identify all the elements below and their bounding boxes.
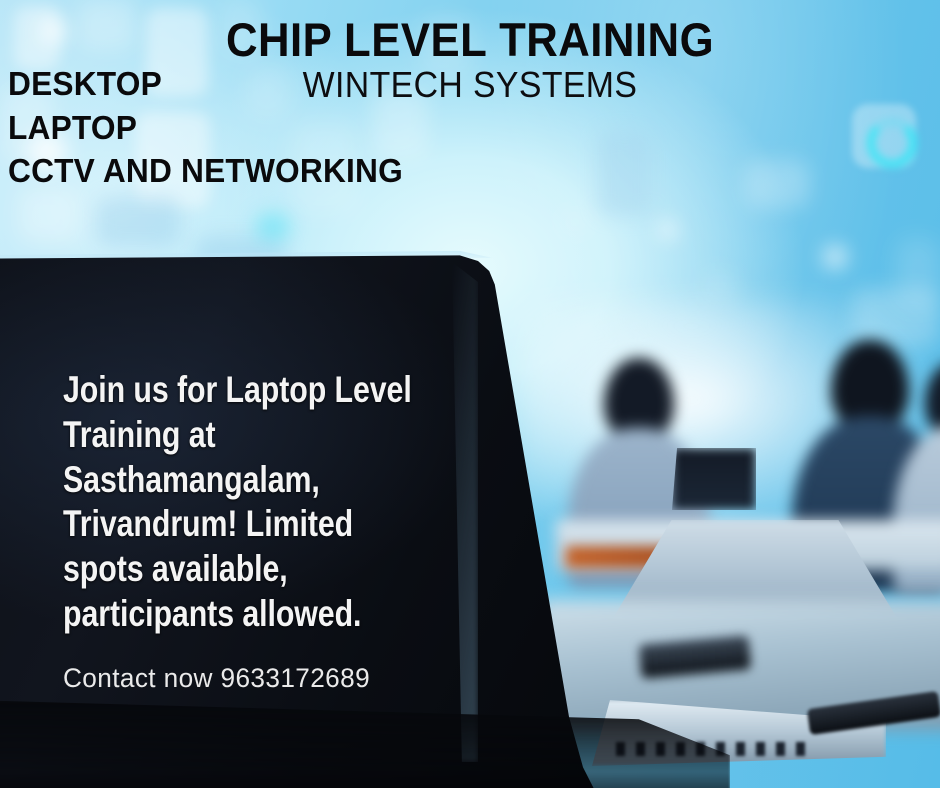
page-title: CHIP LEVEL TRAINING: [33, 12, 907, 67]
person-head: [925, 362, 940, 438]
background-laptop: [672, 448, 756, 510]
service-item-cctv-networking: CCTV AND NETWORKING: [8, 149, 403, 193]
service-item-laptop: LAPTOP: [8, 106, 403, 150]
promo-headline: Join us for Laptop Level Training at Sas…: [63, 368, 440, 637]
service-list: DESKTOP LAPTOP CCTV AND NETWORKING: [8, 62, 419, 193]
promo-block: Join us for Laptop Level Training at Sas…: [63, 368, 441, 694]
poster-canvas: CHIP LEVEL TRAINING WINTECH SYSTEMS DESK…: [0, 0, 940, 788]
service-item-desktop: DESKTOP: [8, 62, 403, 106]
contact-info: Contact now 9633172689: [63, 663, 430, 694]
